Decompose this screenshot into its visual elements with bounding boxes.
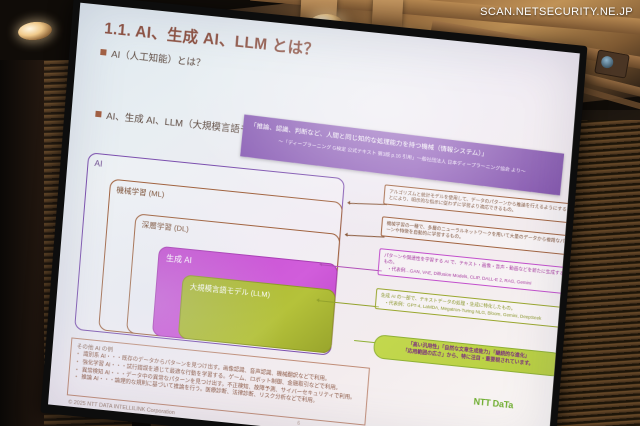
arrowhead-ml-icon [347,201,350,205]
photo-of-presentation-screen: 1.1. AI、生成 AI、LLM とは？ AI（人工知能）とは？ AI、生成 … [0,0,640,426]
arrowhead-gen-icon [319,262,322,266]
display-screen: 1.1. AI、生成 AI、LLM とは？ AI（人工知能）とは？ AI、生成 … [40,0,587,426]
arrowhead-llm-icon [316,298,319,302]
watermark: SCAN.NETSECURITY.NE.JP [480,6,633,18]
bullet-square-icon [100,49,106,56]
arrowhead-dl-icon [345,233,348,237]
bullet-square-icon [95,111,101,118]
diagram-label-ai: AI [94,158,103,169]
bullet-1-label: AI（人工知能）とは？ [111,46,206,70]
left-wall-shadow [0,60,44,426]
page-number: 6 [297,421,300,426]
slide-surface: 1.1. AI、生成 AI、LLM とは？ AI（人工知能）とは？ AI、生成 … [48,3,580,426]
nested-concept-diagram: AI 機械学習 (ML) 深層学習 (DL) 生成 AI 大規模言語モデル (L… [74,152,351,360]
